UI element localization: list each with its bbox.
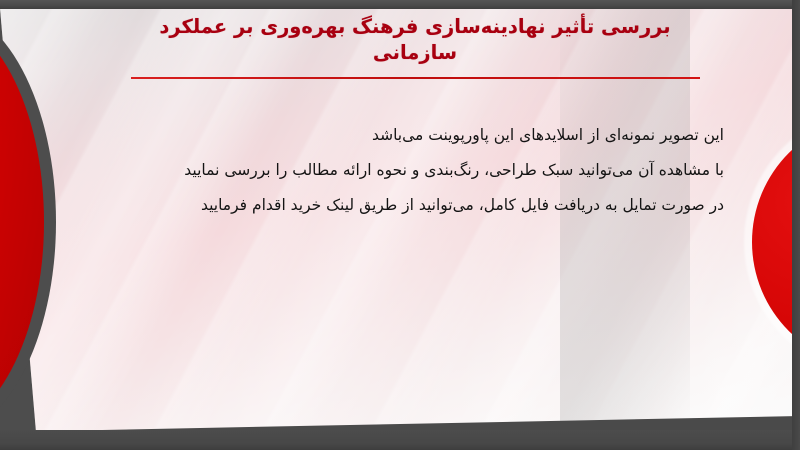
slide-title-line-1: بررسی تأثیر نهادینه‌سازی فرهنگ بهره‌وری … bbox=[120, 14, 710, 40]
slide-frame-right-edge bbox=[792, 0, 800, 450]
title-underline bbox=[131, 77, 700, 79]
presentation-slide: بررسی تأثیر نهادینه‌سازی فرهنگ بهره‌وری … bbox=[0, 0, 800, 450]
body-line-3: در صورت تمایل به دریافت فایل کامل، می‌تو… bbox=[124, 188, 724, 223]
slide-body-text: این تصویر نمونه‌ای از اسلایدهای این پاور… bbox=[124, 118, 724, 223]
slide-title: بررسی تأثیر نهادینه‌سازی فرهنگ بهره‌وری … bbox=[120, 14, 710, 66]
slide-title-line-2: سازمانی bbox=[120, 40, 710, 66]
body-line-2: با مشاهده آن می‌توانید سبک طراحی، رنگ‌بن… bbox=[124, 153, 724, 188]
body-line-1: این تصویر نمونه‌ای از اسلایدهای این پاور… bbox=[124, 118, 724, 153]
slide-frame-bottom-edge bbox=[0, 430, 800, 450]
slide-frame-top-edge bbox=[0, 0, 800, 9]
